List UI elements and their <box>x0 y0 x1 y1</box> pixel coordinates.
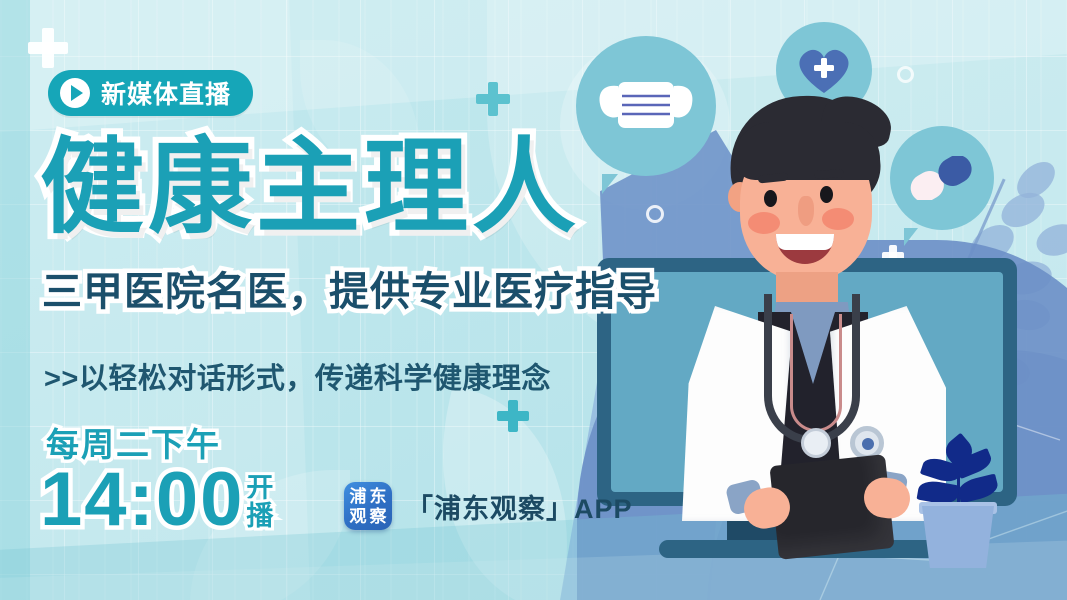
schedule-time-row: 14:00 开 播 <box>40 464 273 536</box>
schedule-start-char-1: 开 <box>246 475 273 503</box>
app-name-label: 「浦东观察」APP <box>406 487 633 526</box>
live-badge[interactable]: 新媒体直播 <box>48 70 253 116</box>
app-promo[interactable]: 浦 东 观 察 「浦东观察」APP <box>344 482 633 530</box>
app-logo-char-2: 东 <box>368 486 388 506</box>
medical-cross-icon <box>497 400 529 432</box>
schedule-start-char-2: 播 <box>246 503 273 531</box>
heart-plus-icon <box>795 43 853 97</box>
live-badge-label: 新媒体直播 <box>101 75 231 111</box>
app-logo-char-3: 观 <box>348 506 368 526</box>
app-logo-icon: 浦 东 观 察 <box>344 482 392 530</box>
ring-decoration <box>646 205 664 223</box>
medical-cross-icon <box>28 28 68 68</box>
page-title: 健康主理人 <box>40 136 580 240</box>
potted-plant-icon <box>900 438 1020 568</box>
health-livestream-banner: 新媒体直播 健康主理人 三甲医院名医，提供专业医疗指导 >>以轻松对话形式，传递… <box>0 0 1067 600</box>
medical-cross-icon <box>476 82 510 116</box>
page-subtitle: 三甲医院名医，提供专业医疗指导 <box>42 272 657 312</box>
ring-decoration <box>897 66 914 83</box>
schedule-time: 14:00 <box>40 464 244 536</box>
id-badge <box>801 428 831 458</box>
background-left-edge <box>0 0 30 600</box>
app-logo-char-4: 察 <box>368 506 388 526</box>
schedule-start-label: 开 播 <box>246 475 273 530</box>
page-tagline: >>以轻松对话形式，传递科学健康理念 <box>44 355 551 397</box>
app-logo-char-1: 浦 <box>348 486 368 506</box>
play-icon <box>60 78 90 108</box>
